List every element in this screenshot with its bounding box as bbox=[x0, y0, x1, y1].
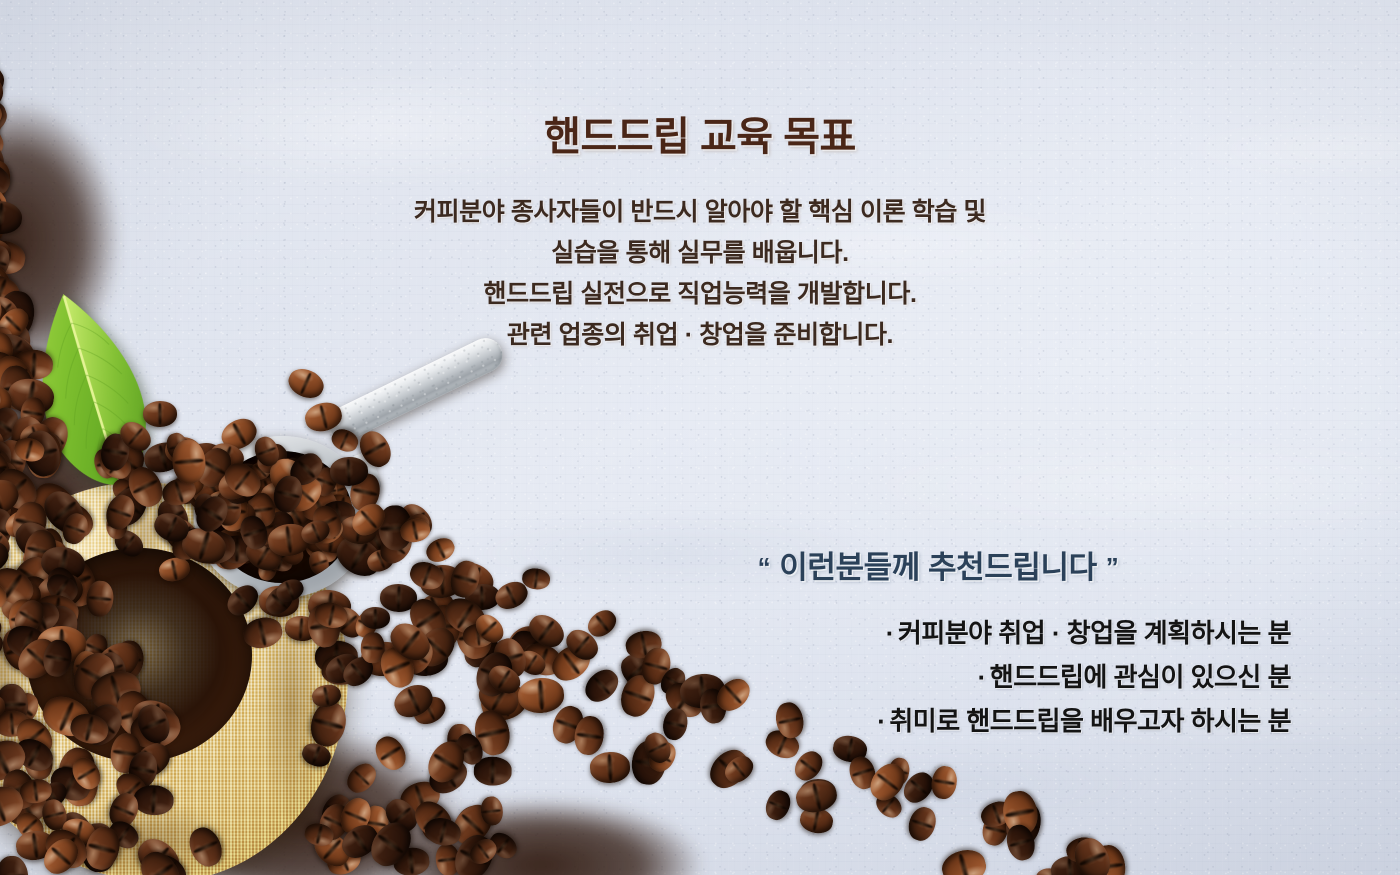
coffee-bean bbox=[143, 400, 178, 427]
bullet-dot-icon: · bbox=[978, 662, 986, 692]
recommendation-item-text: 취미로 핸드드립을 배우고자 하시는 분 bbox=[889, 706, 1291, 736]
recommendation-heading: “이런분들께 추천드립니다” bbox=[585, 542, 1291, 587]
coffee-bean bbox=[361, 607, 390, 629]
recommendation-item: ·커피분야 취업 · 창업을 계획하시는 분 bbox=[585, 611, 1291, 655]
goal-section: 핸드드립 교육 목표 커피분야 종사자들이 반드시 알아야 할 핵심 이론 학습… bbox=[330, 104, 1070, 356]
coffee-bean bbox=[330, 456, 369, 486]
text-content: 핸드드립 교육 목표 커피분야 종사자들이 반드시 알아야 할 핵심 이론 학습… bbox=[0, 0, 1400, 875]
bullet-dot-icon: · bbox=[886, 618, 894, 648]
recommendation-item-text: 커피분야 취업 · 창업을 계획하시는 분 bbox=[898, 618, 1291, 648]
quote-open-mark: “ bbox=[758, 552, 771, 582]
goal-body-line: 커피분야 종사자들이 반드시 알아야 할 핵심 이론 학습 및 bbox=[330, 192, 1070, 233]
goal-body-line: 실습을 통해 실무를 배웁니다. bbox=[330, 233, 1070, 274]
goal-body-lines: 커피분야 종사자들이 반드시 알아야 할 핵심 이론 학습 및실습을 통해 실무… bbox=[330, 192, 1070, 356]
recommendation-item-text: 핸드드립에 관심이 있으신 분 bbox=[990, 662, 1291, 692]
recommendation-heading-text: 이런분들께 추천드립니다 bbox=[779, 550, 1097, 585]
goal-body-line: 관련 업종의 취업 · 창업을 준비합니다. bbox=[330, 315, 1070, 356]
quote-close-mark: ” bbox=[1106, 552, 1119, 582]
goal-title: 핸드드립 교육 목표 bbox=[330, 104, 1070, 162]
bullet-dot-icon: · bbox=[877, 706, 885, 736]
promo-banner: 핸드드립 교육 목표 커피분야 종사자들이 반드시 알아야 할 핵심 이론 학습… bbox=[0, 0, 1400, 875]
goal-body-line: 핸드드립 실전으로 직업능력을 개발합니다. bbox=[330, 274, 1070, 315]
